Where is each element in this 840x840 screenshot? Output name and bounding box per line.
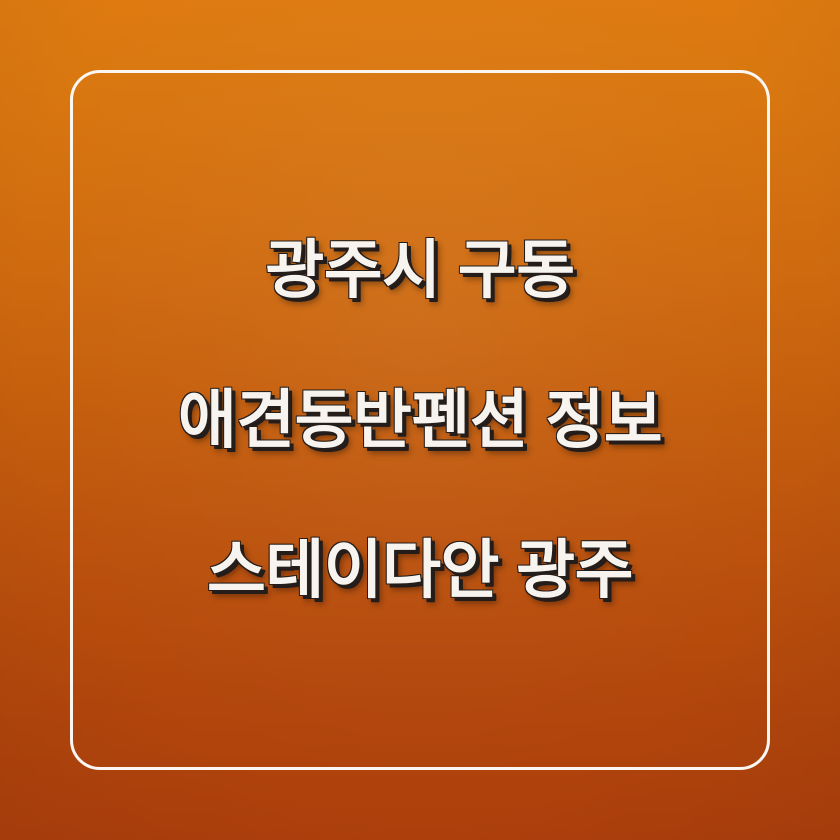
headline-line-3: 스테이다안 광주 — [178, 533, 662, 608]
headline-container: 광주시 구동 애견동반펜션 정보 스테이다안 광주 — [70, 70, 770, 770]
page-title: 광주시 구동 애견동반펜션 정보 스테이다안 광주 — [178, 158, 662, 683]
headline-line-2: 애견동반펜션 정보 — [178, 383, 662, 458]
headline-line-1: 광주시 구동 — [178, 233, 662, 308]
promo-card: 광주시 구동 애견동반펜션 정보 스테이다안 광주 — [0, 0, 840, 840]
